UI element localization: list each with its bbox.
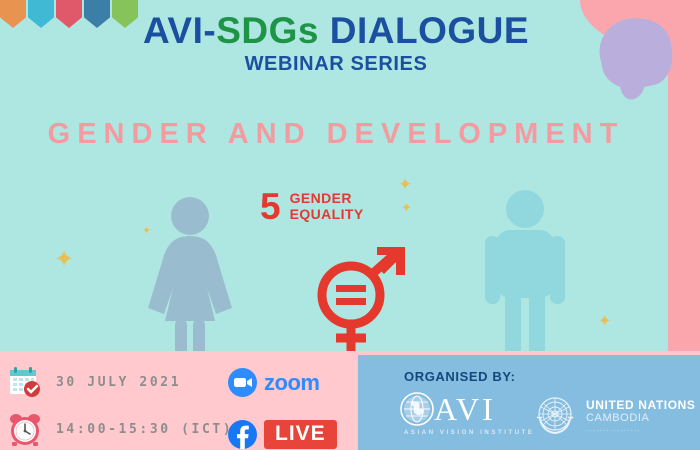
time-text: 14:00-15:30 (ICT) (56, 422, 233, 437)
sdg-title-line1: GENDER (290, 191, 364, 207)
male-silhouette (480, 188, 570, 368)
title-part-dialogue: DIALOGUE (319, 10, 529, 51)
avi-logo: AVI (400, 392, 496, 426)
date-text: 30 JULY 2021 (56, 375, 181, 390)
title-part-avi: AVI- (143, 10, 216, 51)
avi-name: AVI (434, 393, 496, 425)
un-name: UNITED NATIONS (586, 399, 696, 412)
calendar-check-icon (8, 366, 42, 398)
un-text-block: UNITED NATIONS CAMBODIA ................ (586, 399, 696, 434)
facebook-live-platform[interactable]: LIVE (228, 420, 337, 449)
alarm-clock-icon (8, 412, 42, 446)
sdg-title-line2: EQUALITY (290, 207, 364, 223)
sdg-goal-badge: 5 GENDER EQUALITY (260, 188, 364, 225)
organised-by-label: ORGANISED BY: (404, 369, 516, 384)
female-silhouette (140, 196, 240, 371)
date-row: 30 JULY 2021 (8, 366, 181, 398)
sparkle-icon: ✦ (598, 314, 611, 330)
page-title: AVI-SDGs DIALOGUE (0, 12, 672, 49)
avi-tagline: ASIAN VISION INSTITUTE (404, 430, 535, 436)
sparkle-icon: ✦ (398, 176, 412, 193)
facebook-icon (228, 420, 257, 449)
zoom-platform[interactable]: zoom (228, 368, 319, 397)
webinar-poster: ✦ ✦ ✦ ✦ ✦ AVI-SDGs DIALOGUE WEBINAR SERI… (0, 0, 700, 450)
un-tagline: CAMBODIA (586, 412, 696, 425)
sparkle-icon: ✦ (54, 248, 74, 272)
topic-heading: GENDER AND DEVELOPMENT (0, 118, 672, 151)
time-row: 14:00-15:30 (ICT) (8, 412, 233, 446)
live-badge: LIVE (264, 420, 337, 449)
gender-equality-symbol (305, 243, 415, 355)
un-logo: UNITED NATIONS CAMBODIA ................ (532, 393, 696, 439)
title-part-sdgs: SDGs (216, 10, 319, 51)
sdg-title: GENDER EQUALITY (290, 191, 364, 222)
zoom-camera-icon (228, 368, 257, 397)
globe-icon (400, 392, 434, 426)
page-subtitle: WEBINAR SERIES (0, 53, 672, 76)
sparkle-icon: ✦ (401, 201, 412, 214)
un-emblem-icon (532, 393, 578, 439)
sdg-number: 5 (260, 188, 281, 225)
un-dots: ................ (586, 426, 696, 433)
zoom-label: zoom (264, 370, 319, 396)
